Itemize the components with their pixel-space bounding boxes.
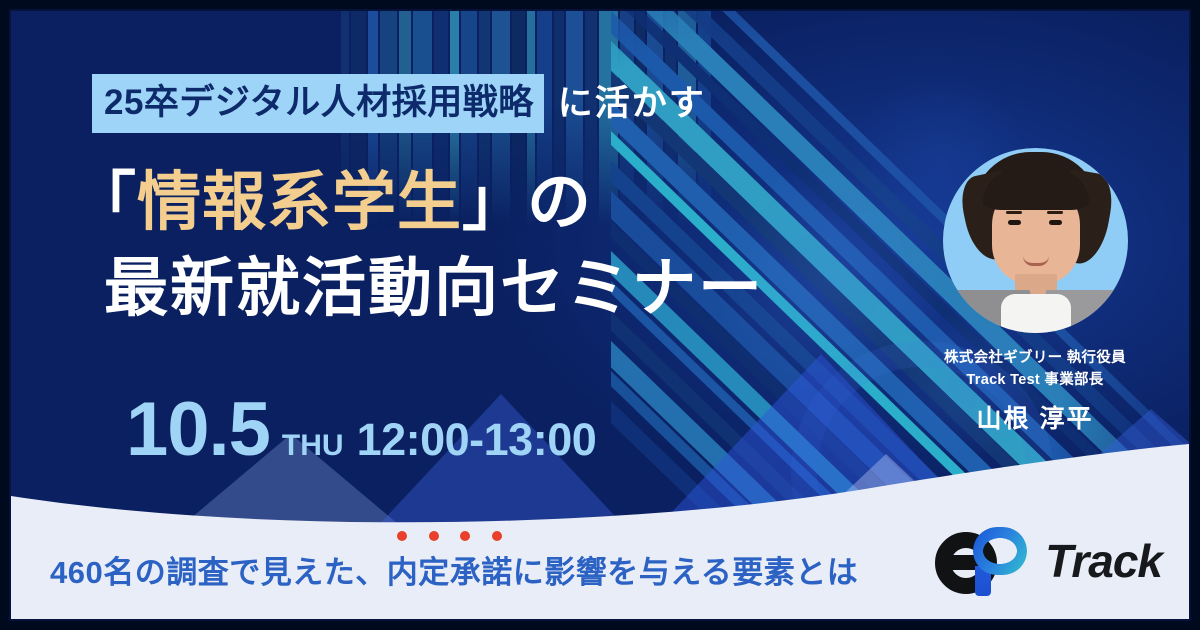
eyebrow-row: 25卒デジタル人材採用戦略 に活かす — [92, 74, 706, 133]
track-logo-icon — [935, 526, 1031, 596]
logo-blue-loop — [973, 527, 1027, 575]
portrait-fringe — [983, 170, 1089, 210]
portrait-eye-left — [1008, 220, 1021, 225]
tagline-emphasis-char: 内 — [387, 547, 419, 592]
track-logo-text: Track — [1045, 534, 1162, 588]
title-quote-close: 」の — [462, 166, 592, 238]
title-gold-term: 情報系学生 — [137, 166, 462, 238]
portrait-eye-right — [1049, 220, 1062, 225]
portrait-eyebrow-left — [1006, 211, 1022, 214]
event-datetime: 10.5 THU 12:00-13:00 — [126, 392, 596, 468]
tagline-emphasis: 内定承諾 — [387, 547, 513, 592]
tagline-emphasis-char: 承 — [450, 547, 482, 592]
speaker-photo — [943, 148, 1128, 333]
speaker-block: 株式会社ギブリー 執行役員 Track Test 事業部長 山根 淳平 — [905, 148, 1165, 435]
event-date: 10.5 — [126, 392, 270, 468]
title-line-2: 最新就活動向セミナー — [104, 253, 764, 325]
tagline-before: 460名の調査で見えた、 — [50, 547, 387, 592]
footer-tagline: 460名の調査で見えた、内定承諾に影響を与える要素とは — [50, 547, 858, 592]
page-title: 「情報系学生」の 最新就活動向セミナー — [72, 168, 764, 325]
eyebrow-highlight: 25卒デジタル人材採用戦略 — [92, 74, 544, 133]
seminar-banner: 25卒デジタル人材採用戦略 に活かす 「情報系学生」の 最新就活動向セミナー 1… — [0, 0, 1200, 630]
speaker-roles: 株式会社ギブリー 執行役員 Track Test 事業部長 — [905, 347, 1165, 392]
portrait-eyebrow-right — [1047, 211, 1063, 214]
eyebrow-tail: に活かす — [558, 86, 706, 121]
track-logo: Track — [935, 526, 1162, 596]
tagline-after: に影響を与える要素とは — [513, 547, 859, 592]
tagline-emphasis-char: 定 — [418, 547, 450, 592]
speaker-company-role: 株式会社ギブリー 執行役員 — [905, 347, 1165, 369]
tagline-emphasis-char: 諾 — [481, 547, 513, 592]
speaker-division-role: Track Test 事業部長 — [905, 369, 1165, 391]
portrait-shirt — [1001, 294, 1071, 333]
title-quote-open: 「 — [72, 166, 137, 238]
title-line-1: 「情報系学生」の — [72, 168, 764, 237]
event-day-of-week: THU — [282, 431, 344, 461]
event-time: 12:00-13:00 — [357, 417, 597, 462]
speaker-name: 山根 淳平 — [905, 399, 1165, 435]
